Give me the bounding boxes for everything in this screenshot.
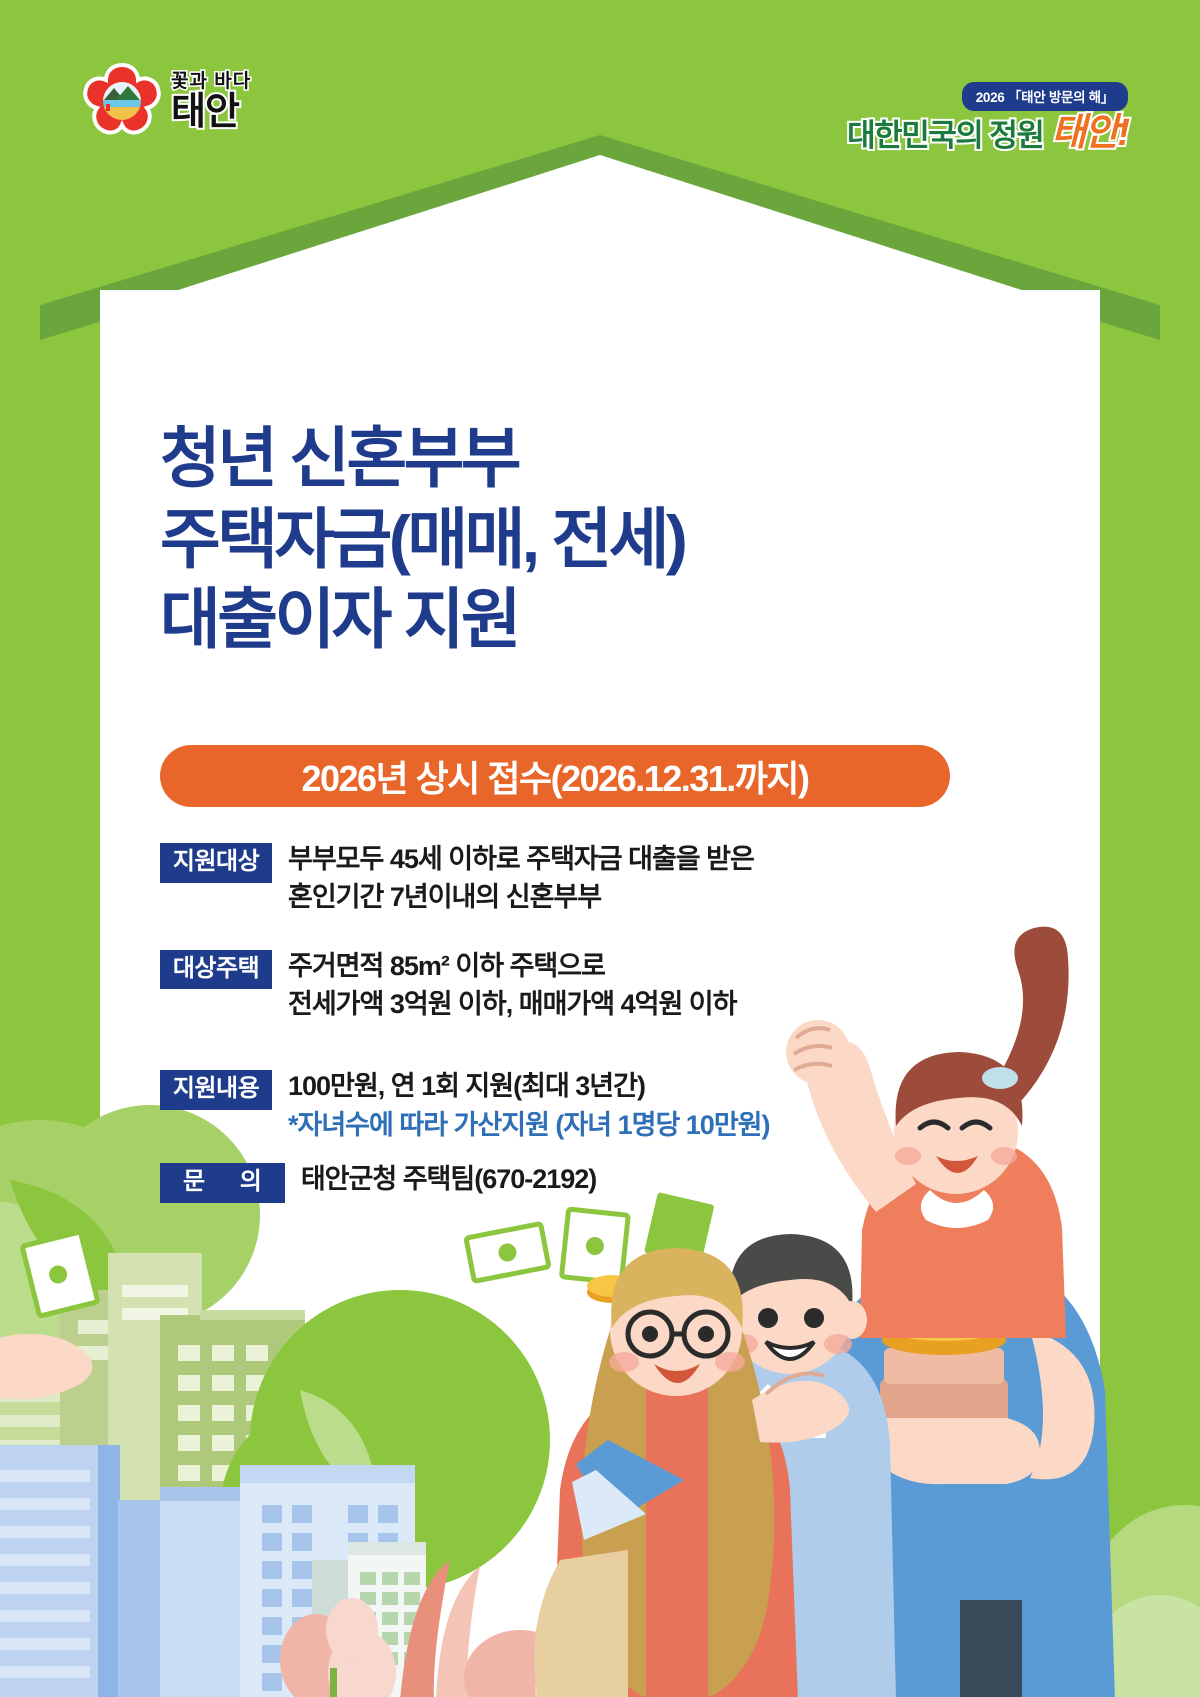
info-row-benefit: 지원내용 100만원, 연 1회 지원(최대 3년간) *자녀수에 따라 가산지… xyxy=(160,1067,1040,1144)
info-lines-benefit: 100만원, 연 1회 지원(최대 3년간) *자녀수에 따라 가산지원 (자녀… xyxy=(288,1067,770,1144)
info-tag-house: 대상주택 xyxy=(160,950,272,990)
page-title: 청년 신혼부부 주택자금(매매, 전세) 대출이자 지원 xyxy=(160,418,1060,660)
info-list: 지원대상 부부모두 45세 이하로 주택자금 대출을 받은 혼인기간 7년이내의… xyxy=(160,840,1040,1217)
info-tag-target: 지원대상 xyxy=(160,843,272,883)
info-line-note: *자녀수에 따라 가산지원 (자녀 1명당 10만원) xyxy=(288,1106,770,1144)
application-period-banner: 2026년 상시 접수(2026.12.31.까지) xyxy=(160,745,950,807)
info-line: 부부모두 45세 이하로 주택자금 대출을 받은 xyxy=(288,840,754,878)
headline-line-2: 주택자금(매매, 전세) xyxy=(160,499,1060,580)
info-row-contact: 문 의 태안군청 주택팀(670-2192) xyxy=(160,1160,1040,1203)
poster-content: 청년 신혼부부 주택자금(매매, 전세) 대출이자 지원 2026년 상시 접수… xyxy=(0,0,1200,1697)
info-line: 태안군청 주택팀(670-2192) xyxy=(301,1160,596,1198)
headline-line-3: 대출이자 지원 xyxy=(160,579,1060,660)
info-lines-contact: 태안군청 주택팀(670-2192) xyxy=(301,1160,596,1198)
headline-line-1: 청년 신혼부부 xyxy=(160,418,1060,499)
info-tag-benefit: 지원내용 xyxy=(160,1070,272,1110)
info-lines-target: 부부모두 45세 이하로 주택자금 대출을 받은 혼인기간 7년이내의 신혼부부 xyxy=(288,840,754,917)
info-line: 100만원, 연 1회 지원(최대 3년간) xyxy=(288,1067,770,1105)
poster: 꽃과 바다 태안 2026 「태안 방문의 해」 대한민국의 정원 태안! 청년… xyxy=(0,0,1200,1697)
info-row-house: 대상주택 주거면적 85m² 이하 주택으로 전세가액 3억원 이하, 매매가액… xyxy=(160,947,1040,1024)
info-lines-house: 주거면적 85m² 이하 주택으로 전세가액 3억원 이하, 매매가액 4억원 … xyxy=(288,947,736,1024)
info-line: 혼인기간 7년이내의 신혼부부 xyxy=(288,878,754,916)
info-tag-contact: 문 의 xyxy=(160,1163,285,1203)
info-line: 주거면적 85m² 이하 주택으로 xyxy=(288,947,736,985)
info-line: 전세가액 3억원 이하, 매매가액 4억원 이하 xyxy=(288,985,736,1023)
info-row-target: 지원대상 부부모두 45세 이하로 주택자금 대출을 받은 혼인기간 7년이내의… xyxy=(160,840,1040,917)
